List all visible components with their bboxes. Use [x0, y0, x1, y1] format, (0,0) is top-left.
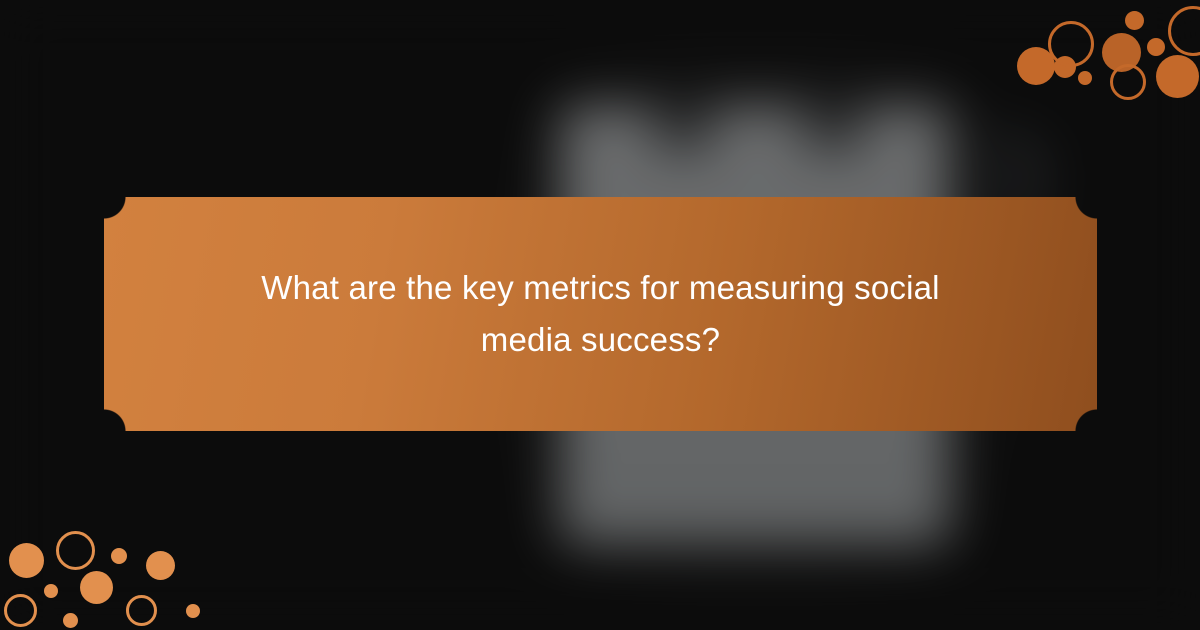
question-title: What are the key metrics for measuring s… [206, 262, 996, 366]
question-banner: What are the key metrics for measuring s… [104, 197, 1097, 431]
page-root: What are the key metrics for measuring s… [0, 0, 1200, 630]
